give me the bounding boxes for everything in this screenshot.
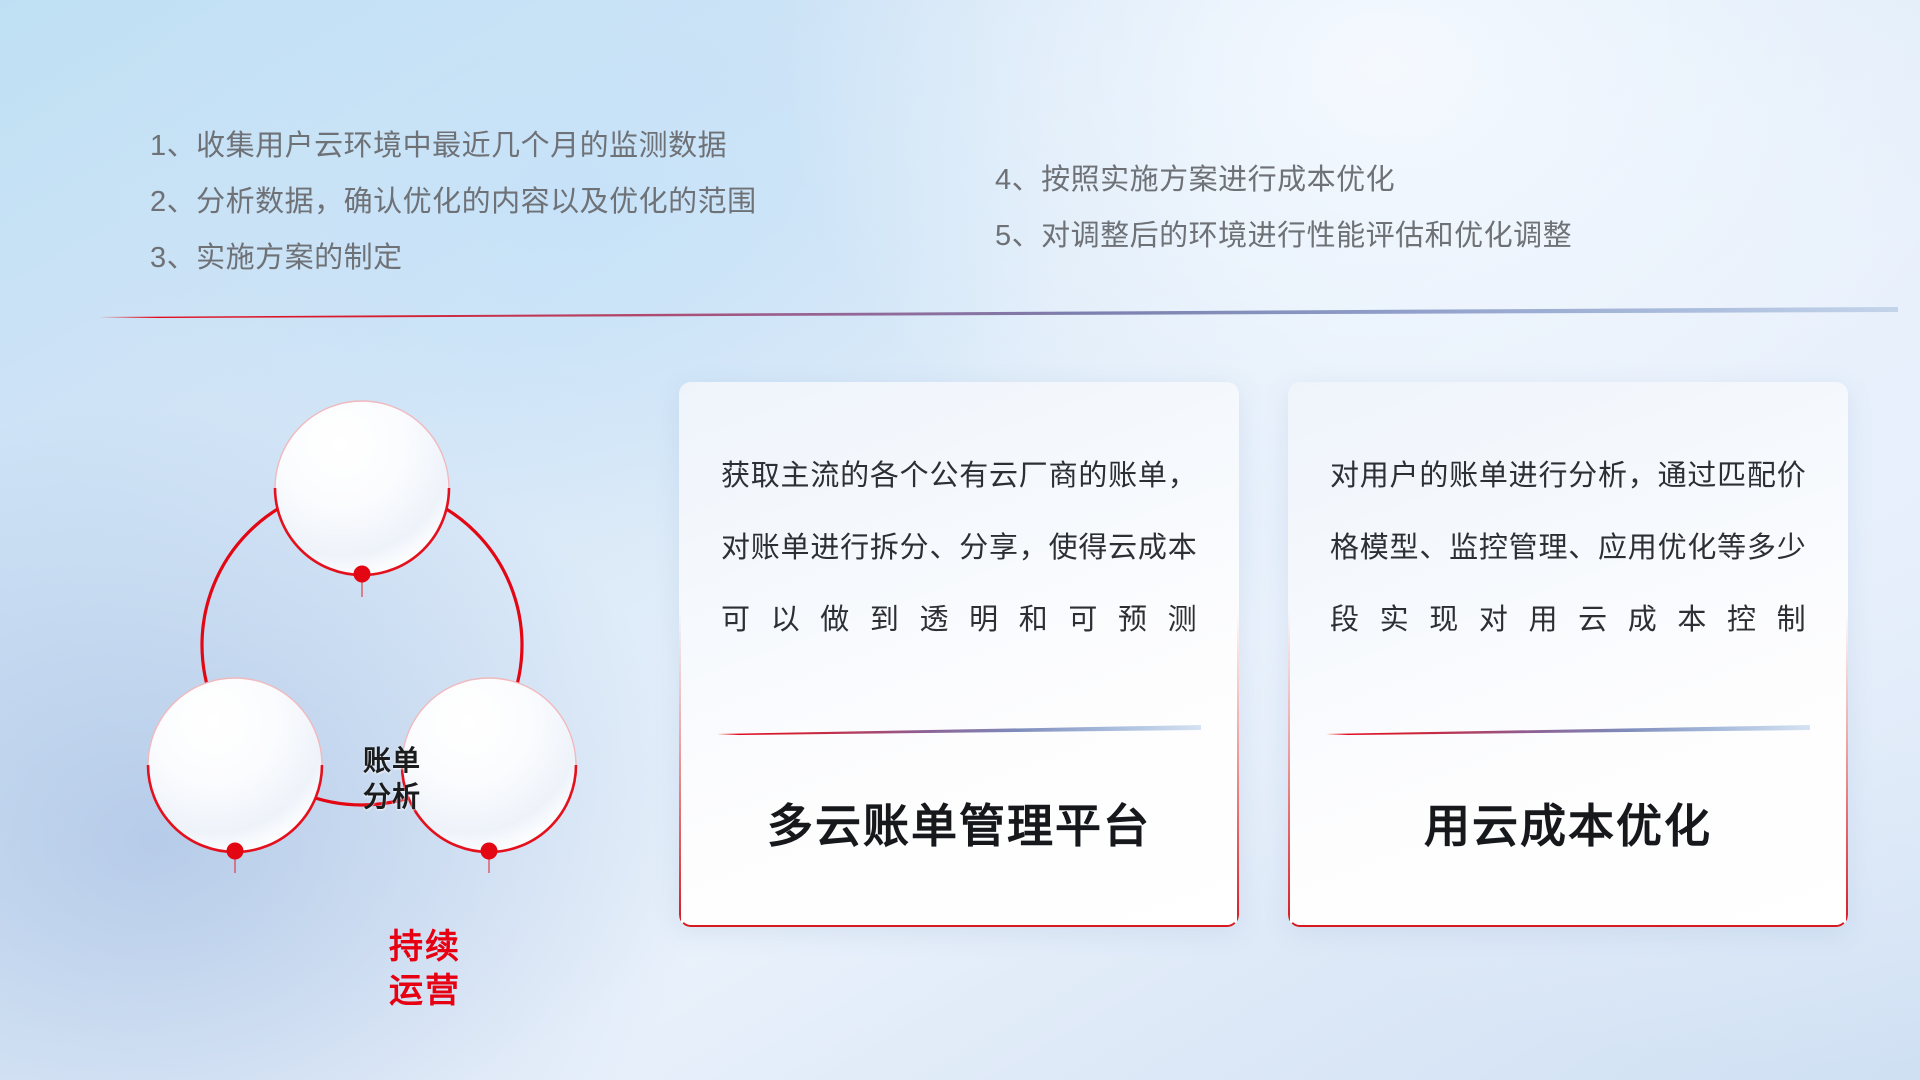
- slide-canvas: 1、收集用户云环境中最近几个月的监测数据 2、分析数据，确认优化的内容以及优化的…: [0, 0, 1920, 1080]
- section-divider-shape: [98, 305, 1898, 319]
- section-divider: [98, 305, 1898, 319]
- diagram-center-label-line1: 持续: [325, 925, 525, 969]
- feature-card-multi-cloud-billing-platform[interactable]: 获取主流的各个公有云厂商的账单，对账单进行拆分、分享，使得云成本可以做到透明和可…: [679, 382, 1239, 927]
- card-divider: [717, 724, 1201, 736]
- continuous-operations-diagram: 账单 分析 操作 运营 优化 策略 持续 运营: [95, 345, 655, 925]
- card-description: 对用户的账单进行分析，通过匹配价格模型、监控管理、应用优化等多少段实现对用云成本…: [1330, 440, 1806, 656]
- node-dot-bill-analysis: [354, 566, 371, 583]
- card-divider-shape: [717, 724, 1201, 736]
- process-step-item: 2、分析数据，确认优化的内容以及优化的范围: [150, 174, 757, 230]
- card-title: 多云账单管理平台: [679, 790, 1239, 856]
- card-body: 获取主流的各个公有云厂商的账单，对账单进行拆分、分享，使得云成本可以做到透明和可…: [721, 440, 1197, 656]
- node-dot-optimization-strategy: [481, 843, 498, 860]
- process-step-item: 3、实施方案的制定: [150, 230, 757, 286]
- diagram-center-label-line2: 运营: [325, 969, 525, 1013]
- diagram-shapes: [95, 345, 655, 925]
- card-body: 对用户的账单进行分析，通过匹配价格模型、监控管理、应用优化等多少段实现对用云成本…: [1330, 440, 1806, 656]
- feature-card-cloud-cost-optimization[interactable]: 对用户的账单进行分析，通过匹配价格模型、监控管理、应用优化等多少段实现对用云成本…: [1288, 382, 1848, 927]
- process-step-item: 5、对调整后的环境进行性能评估和优化调整: [995, 208, 1572, 264]
- process-steps-right-column: 4、按照实施方案进行成本优化 5、对调整后的环境进行性能评估和优化调整: [995, 152, 1572, 264]
- process-steps-left-column: 1、收集用户云环境中最近几个月的监测数据 2、分析数据，确认优化的内容以及优化的…: [150, 118, 757, 286]
- node-dot-operations: [227, 843, 244, 860]
- card-description: 获取主流的各个公有云厂商的账单，对账单进行拆分、分享，使得云成本可以做到透明和可…: [721, 440, 1197, 656]
- diagram-center-label: 持续 运营: [325, 925, 525, 1013]
- process-step-item: 1、收集用户云环境中最近几个月的监测数据: [150, 118, 757, 174]
- card-title: 用云成本优化: [1288, 790, 1848, 856]
- card-divider: [1326, 724, 1810, 736]
- card-divider-shape: [1326, 724, 1810, 736]
- process-step-item: 4、按照实施方案进行成本优化: [995, 152, 1572, 208]
